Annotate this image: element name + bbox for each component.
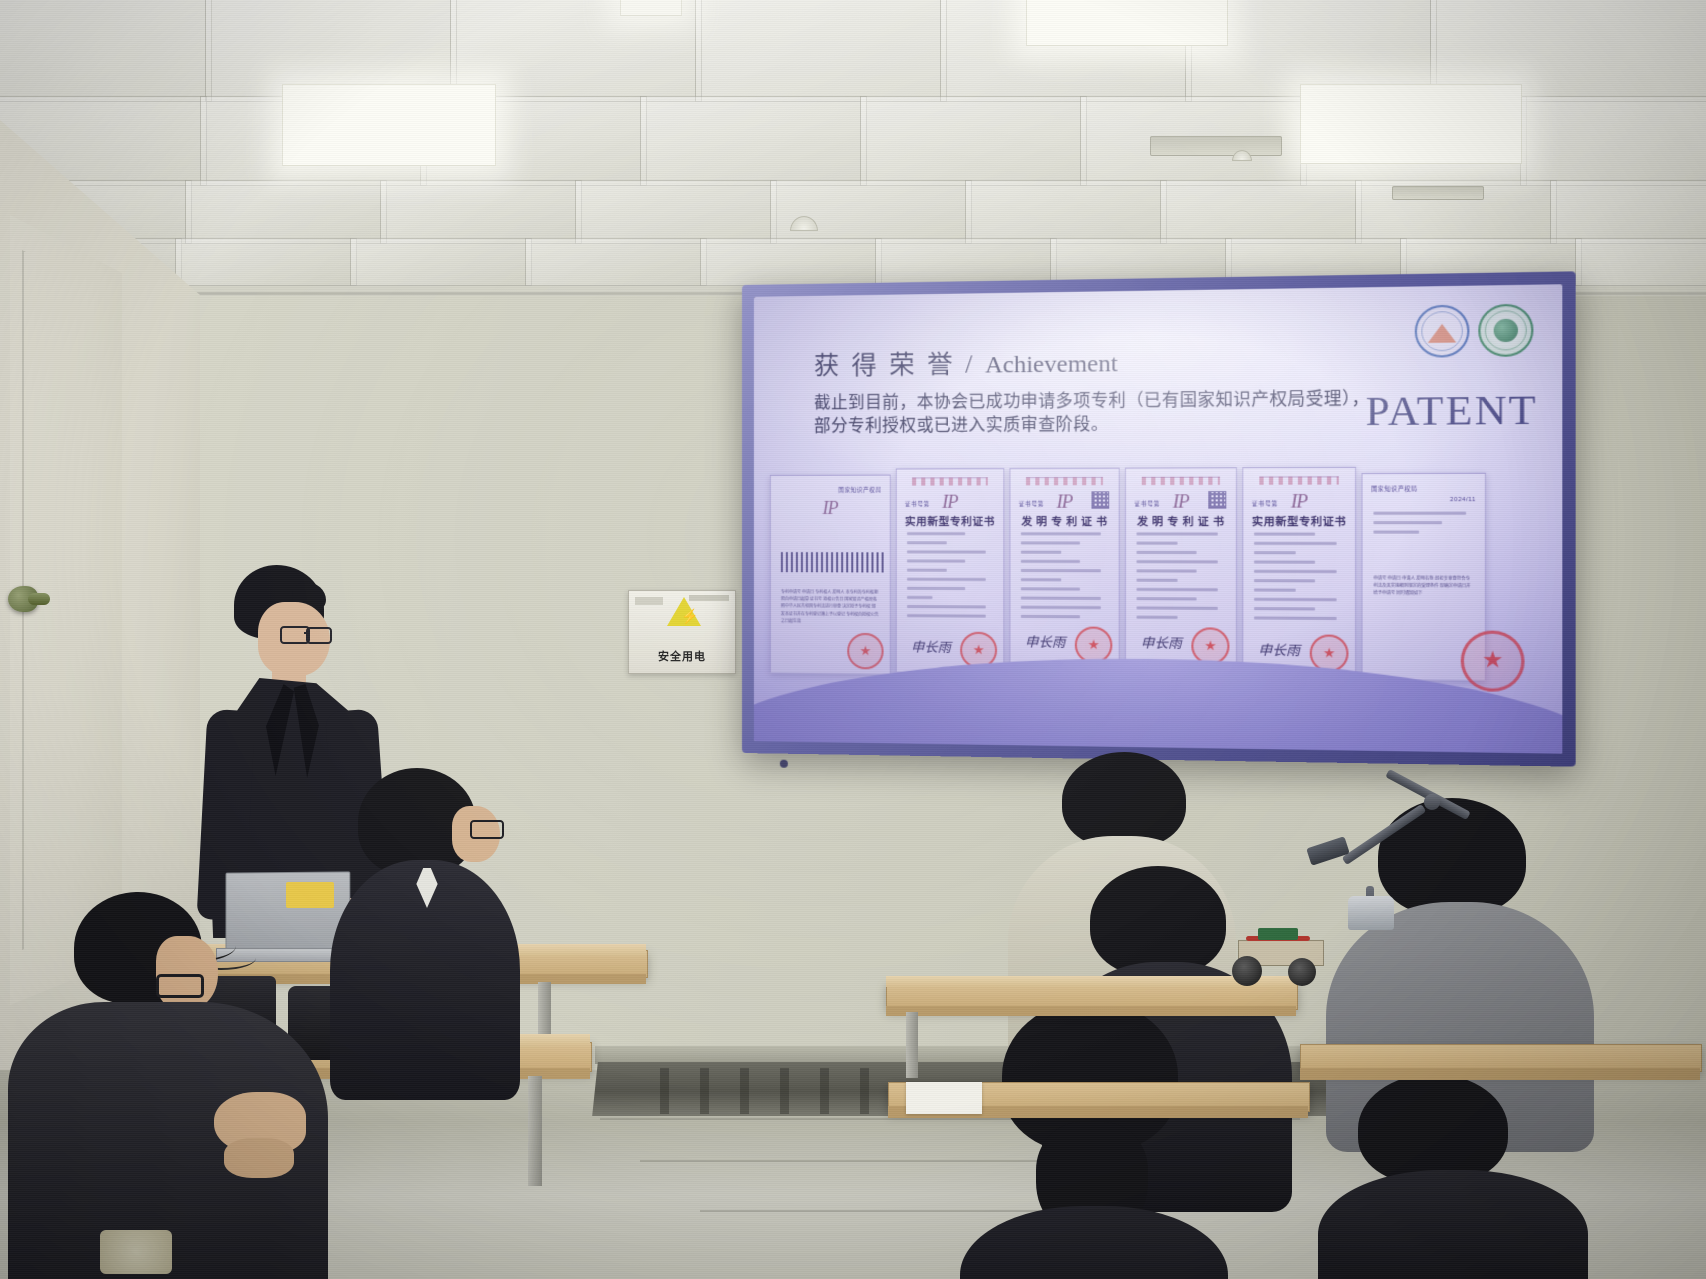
certificate-heading: 发 明 专 利 证 书 (1011, 514, 1119, 529)
door-latch[interactable] (28, 593, 50, 605)
official-red-seal-icon (1461, 630, 1525, 692)
slide-title-en: Achievement (985, 351, 1118, 379)
certificate-field-lines (907, 532, 993, 624)
ceiling-light-panel (1026, 0, 1228, 46)
barcode-icon (781, 552, 886, 572)
certificate-authority: 国家知识产权局 (838, 486, 881, 494)
audience-hair (1090, 866, 1226, 976)
audience-badge (100, 1230, 172, 1274)
certificate-number-label: 证书号第 (905, 500, 930, 508)
safety-sign-label: 安全用电 (629, 648, 735, 664)
certificate-number-label: 证书号第 (1134, 499, 1160, 507)
slide-title-separator: / (965, 351, 975, 379)
certificate-image: 证书号第 IP 发 明 专 利 证 书 申长雨 (1009, 468, 1119, 669)
presentation-slide: 获 得 荣 誉 / Achievement 截止到目前，本协会已成功申请多项专利… (754, 284, 1562, 754)
audience-hand (224, 1138, 294, 1178)
far-right-desk-edge (1300, 1068, 1700, 1080)
sign-bracket (635, 597, 663, 605)
certificate-field-lines (1021, 532, 1108, 624)
glasses-icon (470, 820, 504, 839)
audience-torso (1318, 1170, 1588, 1279)
ip-logo-icon: IP (1291, 491, 1307, 513)
certificate-signature: 申长雨 (1141, 632, 1182, 652)
association-seal-icon (1478, 304, 1533, 357)
certificate-ornament (1141, 477, 1220, 485)
certificate-heading: 实用新型专利证书 (897, 514, 1003, 529)
certificate-heading: 实用新型专利证书 (1243, 514, 1355, 530)
ceiling-vent (1392, 186, 1484, 200)
slide-logos (1415, 304, 1534, 358)
wall-display[interactable]: 获 得 荣 誉 / Achievement 截止到目前，本协会已成功申请多项专利… (742, 271, 1576, 766)
certificate-number-label: 证书号第 (1019, 500, 1044, 508)
slide-body-line-1: 截止到目前，本协会已成功申请多项专利（已有国家知识产权局受理）， (814, 386, 1400, 415)
paper-sheet (906, 1082, 982, 1114)
slide-body-line-2: 部分专利授权或已进入实质审查阶段。 (814, 411, 1400, 439)
robot-car-kit (1232, 922, 1328, 988)
ceiling-light-panel (1300, 84, 1522, 164)
certificate-ornament (1259, 476, 1339, 485)
glasses-icon (156, 974, 204, 998)
glasses-icon (306, 627, 332, 644)
desk-leg (528, 1076, 542, 1186)
certificate-authority: 国家知识产权局 (1371, 484, 1417, 492)
certificate-signature: 申长雨 (1258, 639, 1300, 659)
certificate-heading: 发 明 专 利 证 书 (1126, 514, 1236, 530)
certificate-field-lines (1136, 532, 1225, 625)
display-ir-sensor (780, 760, 788, 768)
qr-code-icon (1208, 491, 1226, 509)
desk-lamp-joint (1424, 794, 1440, 810)
classroom-presentation-photo: ⚡ 安全用电 获 得 荣 誉 / Achievement (0, 0, 1706, 1279)
laptop-sticker (286, 882, 334, 908)
audience-hair (1378, 798, 1526, 916)
audience-hair (1358, 1074, 1508, 1184)
slide-title-cn: 获 得 荣 誉 (814, 352, 956, 381)
glasses-bridge (304, 632, 309, 634)
certificate-signature: 申长雨 (1025, 631, 1065, 651)
certificate-date: 2024/11 (1450, 497, 1476, 503)
lightning-bolt-icon: ⚡ (681, 609, 698, 623)
ip-logo-icon: IP (942, 492, 957, 513)
ceiling-light-panel (282, 84, 496, 166)
certificate-image: 证书号第 IP 实用新型专利证书 申长雨 (1242, 467, 1356, 678)
certificate-signature: 申长雨 (911, 636, 951, 656)
ceiling-vent (1150, 136, 1282, 156)
ip-logo-icon: IP (823, 498, 838, 519)
certificate-number-label: 证书号第 (1252, 499, 1278, 507)
robot-wheel (1232, 956, 1262, 986)
ip-logo-icon: IP (1173, 491, 1189, 513)
display-bezel: 获 得 荣 誉 / Achievement 截止到目前，本协会已成功申请多项专利… (754, 284, 1562, 754)
certificate-image: 证书号第 IP 发 明 专 利 证 书 申长雨 (1125, 467, 1237, 670)
slide-title: 获 得 荣 誉 / Achievement (814, 342, 1118, 382)
ceiling (0, 0, 1706, 300)
desk-lamp-base (1348, 896, 1394, 930)
certificate-image: 国家知识产权局 IP 专利申请号 申请日 专利权人 发明人 本专利的专利权期限自… (770, 475, 891, 675)
certificate-ornament (1026, 477, 1104, 485)
official-red-seal-icon (847, 633, 883, 670)
ceiling-light-panel (620, 0, 682, 16)
ip-logo-icon: IP (1057, 491, 1073, 512)
certificate-image: 证书号第 IP 实用新型专利证书 申长雨 (896, 468, 1005, 674)
robot-wheel (1288, 958, 1316, 986)
slide-patent-wordmark: PATENT (1366, 385, 1538, 436)
certificate-ornament (912, 477, 989, 485)
certificate-fineprint: 申请号 申请日 申请人 发明名称 经初步审查符合专利法及其实施细则规定的受理条件… (1373, 574, 1473, 669)
safety-sign: ⚡ 安全用电 (628, 590, 736, 674)
robot-board (1258, 928, 1298, 940)
audience-face (156, 936, 218, 1010)
desk-leg (906, 1012, 918, 1078)
qr-code-icon (1091, 491, 1109, 508)
certificate-field-lines (1373, 512, 1473, 540)
certificate-field-lines (1254, 532, 1344, 626)
right-desk-edge (886, 1006, 1296, 1016)
university-seal-icon (1415, 305, 1470, 358)
certificate-gallery: 国家知识产权局 IP 专利申请号 申请日 专利权人 发明人 本专利的专利权期限自… (770, 466, 1545, 688)
audience-hair (1062, 752, 1186, 848)
slide-body: 截止到目前，本协会已成功申请多项专利（已有国家知识产权局受理）， 部分专利授权或… (814, 386, 1400, 438)
